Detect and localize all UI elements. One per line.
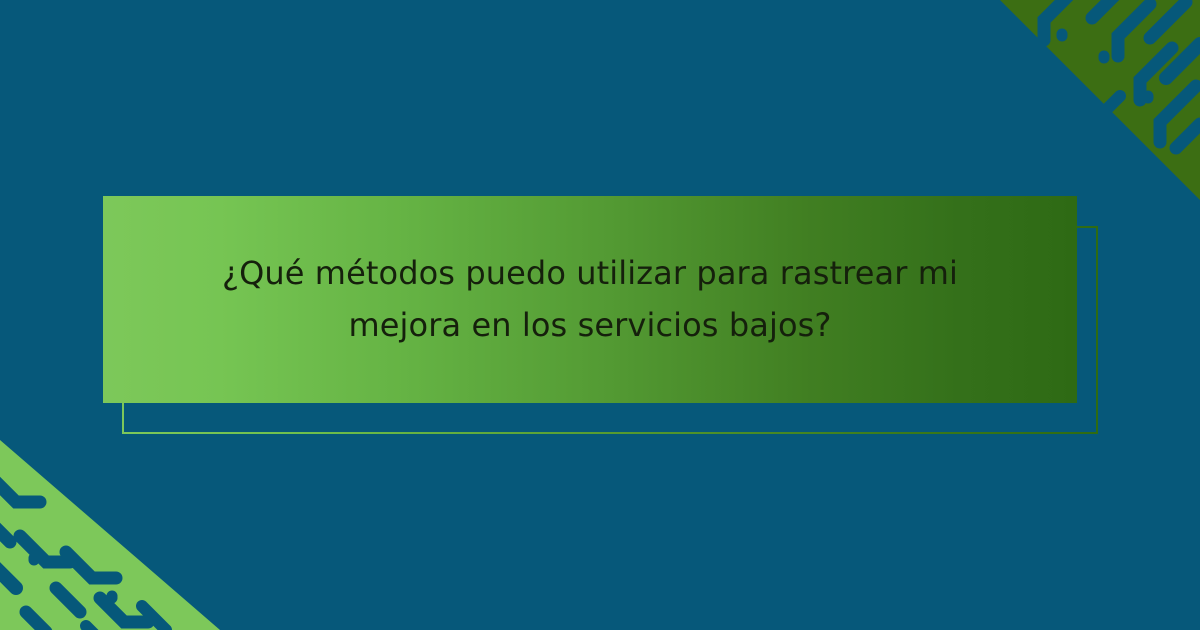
circuit-pattern-top-right-icon bbox=[1000, 0, 1200, 200]
banner-root: ¿Qué métodos puedo utilizar para rastrea… bbox=[0, 0, 1200, 630]
circuit-pattern-bottom-left-icon bbox=[0, 430, 220, 630]
page-title: ¿Qué métodos puedo utilizar para rastrea… bbox=[190, 248, 990, 352]
title-card: ¿Qué métodos puedo utilizar para rastrea… bbox=[103, 196, 1077, 403]
